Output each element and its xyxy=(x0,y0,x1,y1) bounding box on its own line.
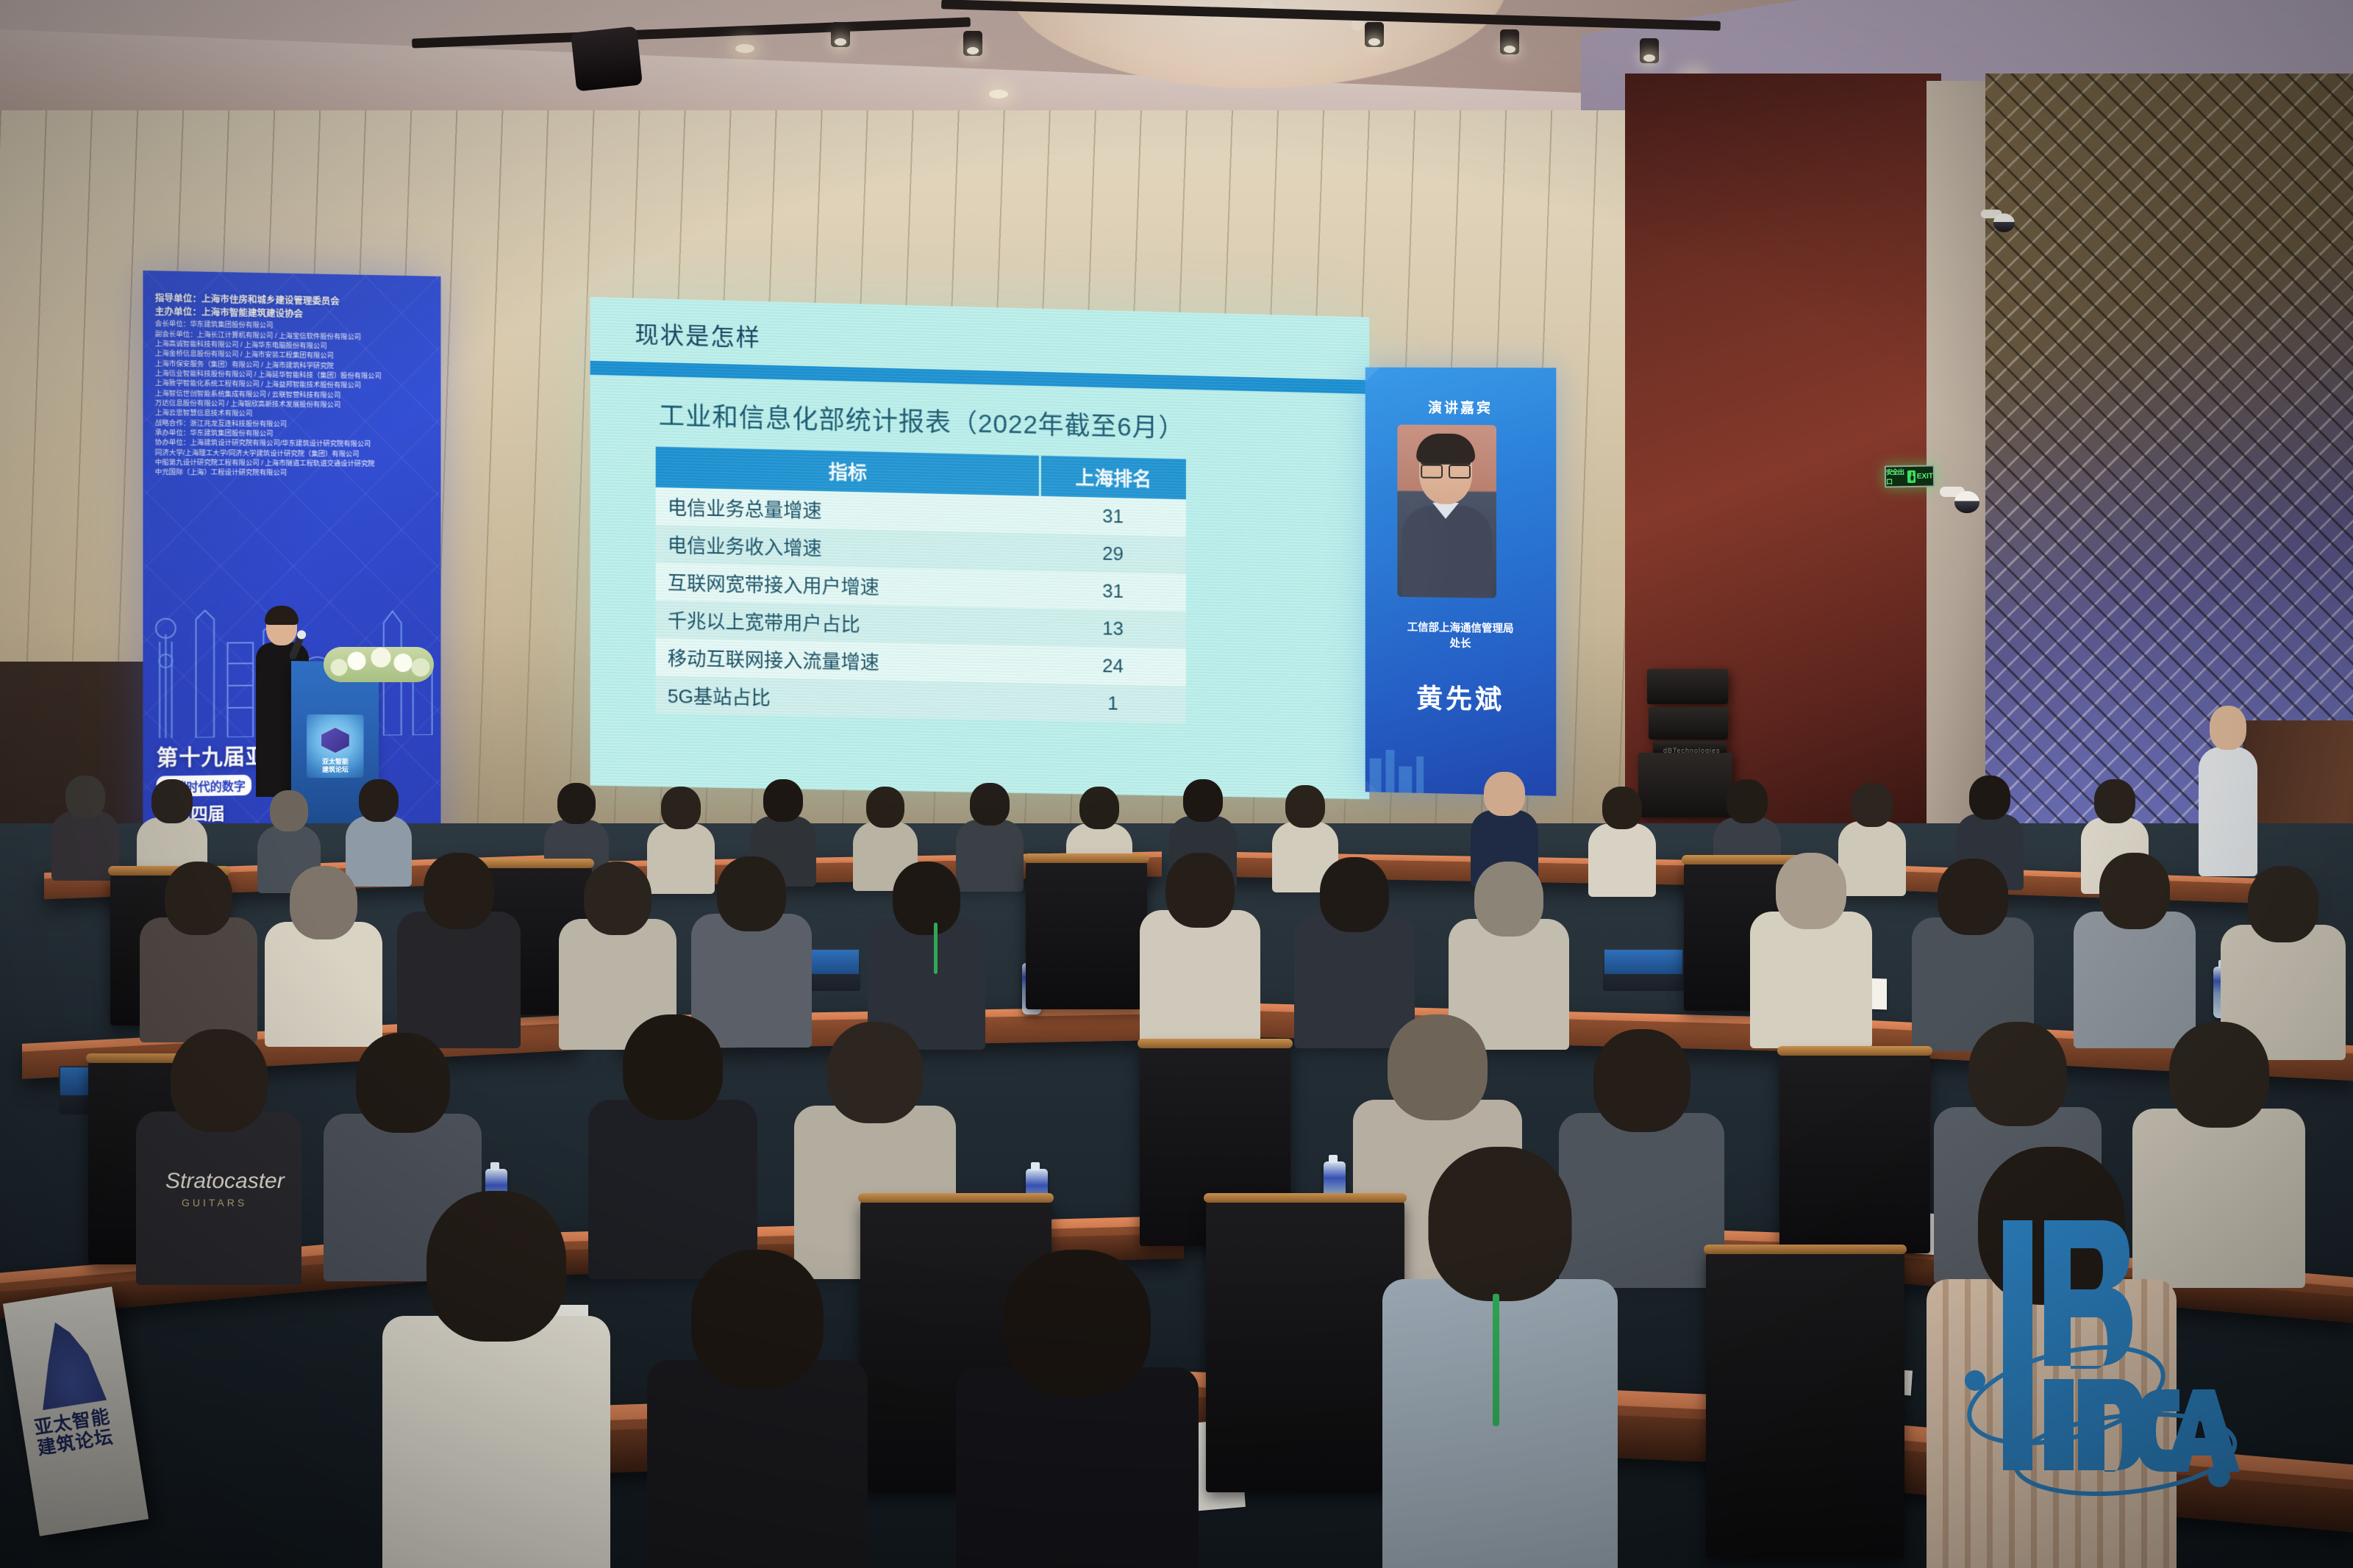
sponsor-list: 指导单位：上海市住房和城乡建设管理委员会 主办单位：上海市智能建筑建设协会 会长… xyxy=(143,271,440,479)
attendee-head xyxy=(270,790,308,831)
cell-rank: 31 xyxy=(1040,571,1186,612)
attendee-head xyxy=(717,856,786,931)
attendee-body xyxy=(1750,912,1872,1048)
attendee-body xyxy=(382,1316,610,1568)
attendee-body xyxy=(397,912,521,1048)
attendee-head xyxy=(1320,857,1389,932)
spotlight xyxy=(831,22,850,47)
attendee-head xyxy=(970,783,1010,826)
attendee-head xyxy=(1776,853,1846,929)
speaker-portrait xyxy=(1397,425,1496,598)
camera-dome xyxy=(1993,213,2015,232)
exit-sign-chinese-label: 安全出口 xyxy=(1886,467,1906,486)
attendee-head xyxy=(557,783,596,824)
security-camera-icon xyxy=(1940,485,1978,519)
attendee-head xyxy=(1484,772,1525,816)
speaker-organization: 工信部上海通信管理局 处长 xyxy=(1365,620,1557,654)
presentation-slide: 现状是怎样 工业和信息化部统计报表（2022年截至6月） 指标 上海排名 电信业… xyxy=(590,297,1370,799)
laptop-screen xyxy=(1604,950,1682,974)
attendee-head xyxy=(2094,779,2135,823)
attendee-head xyxy=(1474,862,1543,937)
shirt-brand-line1: Stratocaster xyxy=(165,1169,285,1194)
slide-heading: 工业和信息化部统计报表（2022年截至6月） xyxy=(659,395,1185,445)
portrait-hair xyxy=(1416,434,1475,463)
speaker-info-led-panel: 演讲嘉宾 工信部上海通信管理局 处长 黄先斌 xyxy=(1365,368,1557,796)
attendee-head xyxy=(1388,1014,1488,1120)
slide-accent-bar xyxy=(590,361,1370,394)
attendee xyxy=(2074,853,2196,1045)
speaker-org-line2: 处长 xyxy=(1365,635,1557,654)
attendee-head xyxy=(1285,785,1325,828)
attendee-head xyxy=(1079,787,1119,829)
attendee-head xyxy=(763,779,803,822)
attendee-head xyxy=(1593,1029,1690,1132)
line-array-speaker xyxy=(1647,669,1728,704)
attendee-head xyxy=(1852,783,1893,827)
camera-dome xyxy=(1954,491,1979,513)
logo-cube-icon xyxy=(321,728,349,753)
ibca-logo-svg xyxy=(1941,1206,2250,1500)
podium-logo-line1: 亚太智能 xyxy=(307,758,363,766)
ibca-logo-watermark xyxy=(1941,1206,2250,1500)
logo-orbit-dot xyxy=(1965,1370,1985,1391)
line-array-speaker xyxy=(1649,707,1728,740)
shirt-brand-line2: GUITARS xyxy=(182,1197,247,1209)
running-man-icon xyxy=(1907,470,1915,482)
attendee-foreground xyxy=(382,1191,610,1568)
slide-title: 现状是怎样 xyxy=(635,316,761,354)
chair-top-rail xyxy=(1777,1046,1932,1056)
attendee-head xyxy=(623,1014,723,1120)
attendee-head xyxy=(1004,1250,1151,1397)
exit-sign-english-label: EXIT xyxy=(1917,472,1933,480)
conference-chair xyxy=(1706,1250,1904,1558)
attendee-head xyxy=(661,787,701,829)
attendee-foreground xyxy=(956,1250,1199,1568)
attendee-head xyxy=(584,862,651,935)
attendee xyxy=(1912,859,2034,1048)
conference-chair xyxy=(1206,1198,1404,1492)
cell-metric: 5G基站占比 xyxy=(656,676,1040,720)
staff-body xyxy=(2199,747,2257,876)
lanyard xyxy=(934,923,938,974)
attendee-body xyxy=(265,922,382,1047)
attendee-body xyxy=(1588,823,1656,897)
logo-orbit-dot xyxy=(2208,1465,2230,1487)
floral-arrangement xyxy=(324,647,434,682)
podium-logo-text: 亚太智能 建筑论坛 xyxy=(307,758,363,773)
attendee-head xyxy=(356,1033,450,1133)
ceiling-downlight xyxy=(735,44,754,53)
sponsor-line: 中元国际（上海）工程设计研究院有限公司 xyxy=(155,467,432,479)
attendee-head xyxy=(426,1191,566,1342)
attendee-head xyxy=(65,776,105,818)
cell-rank: 29 xyxy=(1040,534,1186,574)
attendee-foreground xyxy=(1382,1147,1618,1568)
attendee-body xyxy=(140,917,257,1042)
podium-logo-line2: 建筑论坛 xyxy=(307,766,363,774)
attendee-head xyxy=(171,1029,268,1132)
spotlight xyxy=(1640,38,1659,63)
attendee-body xyxy=(956,1367,1199,1568)
attendee xyxy=(51,776,119,871)
attendee-body xyxy=(647,1360,868,1568)
security-camera-icon xyxy=(1981,208,2013,237)
attendee-head xyxy=(1165,853,1235,928)
cell-rank: 31 xyxy=(1040,496,1186,537)
glasses-icon xyxy=(1421,463,1471,474)
attendee-head xyxy=(165,862,232,935)
statistics-table: 指标 上海排名 电信业务总量增速 31 电信业务收入增速 29 互联网宽带接入用… xyxy=(656,447,1186,724)
attendee-head xyxy=(866,787,904,828)
attendee-head xyxy=(290,866,357,939)
attendee-body xyxy=(1382,1279,1618,1568)
spotlight xyxy=(963,31,982,56)
attendee-head xyxy=(691,1250,824,1389)
cell-rank: 1 xyxy=(1040,684,1186,724)
attendee xyxy=(265,866,382,1042)
spotlight xyxy=(1365,22,1384,47)
laptop xyxy=(1603,948,1684,991)
chair-top-rail xyxy=(1204,1193,1407,1203)
podium-forum-logo: 亚太智能 建筑论坛 xyxy=(307,715,363,778)
attendee-head xyxy=(2169,1022,2269,1128)
attendee-head xyxy=(2099,853,2170,929)
attendee-foreground xyxy=(647,1250,868,1568)
column-header-rank: 上海排名 xyxy=(1040,456,1186,499)
conference-chair xyxy=(1779,1051,1930,1253)
attendee-head xyxy=(1969,776,2010,820)
presenter-hair xyxy=(265,606,299,625)
chair-top-rail xyxy=(1138,1039,1293,1048)
emergency-exit-sign: 安全出口 EXIT xyxy=(1885,465,1935,487)
cell-rank: 24 xyxy=(1040,646,1186,687)
attendee xyxy=(868,862,985,1045)
chair-top-rail xyxy=(1704,1245,1907,1254)
attendee-head xyxy=(1727,779,1768,823)
attendee-head xyxy=(1968,1022,2067,1126)
speaker-name: 黄先斌 xyxy=(1365,676,1557,718)
attendee xyxy=(1588,787,1656,892)
wall-stone-pillar xyxy=(1927,81,1993,875)
lanyard xyxy=(1493,1294,1499,1426)
conference-chair xyxy=(1026,859,1147,1009)
attendee xyxy=(1140,853,1260,1042)
attendee xyxy=(397,853,521,1044)
attendee-head xyxy=(893,862,960,935)
attendee-head xyxy=(359,779,399,822)
attendee xyxy=(1750,853,1872,1045)
cell-rank: 13 xyxy=(1040,609,1186,649)
attendee-head xyxy=(1183,779,1223,822)
attendee-head xyxy=(1602,787,1642,829)
attendee-stratocaster-shirt: Stratocaster GUITARS xyxy=(136,1029,301,1279)
attendee-head xyxy=(827,1022,923,1123)
speaker-panel-label: 演讲嘉宾 xyxy=(1365,396,1557,417)
spotlight xyxy=(1500,29,1519,54)
attendee-body xyxy=(1140,910,1260,1045)
attendee-head xyxy=(1938,859,2008,935)
staff-head xyxy=(2210,706,2246,750)
portrait-body xyxy=(1402,505,1492,598)
ceiling-downlight xyxy=(989,90,1008,99)
attendee xyxy=(588,1014,757,1272)
attendee-head xyxy=(1429,1147,1572,1301)
standing-staff-member xyxy=(2199,706,2257,875)
standee-skyline-graphic xyxy=(21,1315,115,1415)
chair-top-rail xyxy=(1024,853,1149,863)
ceiling-projector xyxy=(571,26,643,92)
attendee-head xyxy=(2248,866,2318,942)
attendee xyxy=(140,862,257,1038)
conference-room-photo: 安全出口 EXIT dBTechnologies 指导单位：上海市住房和城乡建设… xyxy=(0,0,2353,1568)
attendee-head xyxy=(424,853,494,929)
chair-top-rail xyxy=(858,1193,1054,1203)
attendee-head xyxy=(151,779,193,823)
